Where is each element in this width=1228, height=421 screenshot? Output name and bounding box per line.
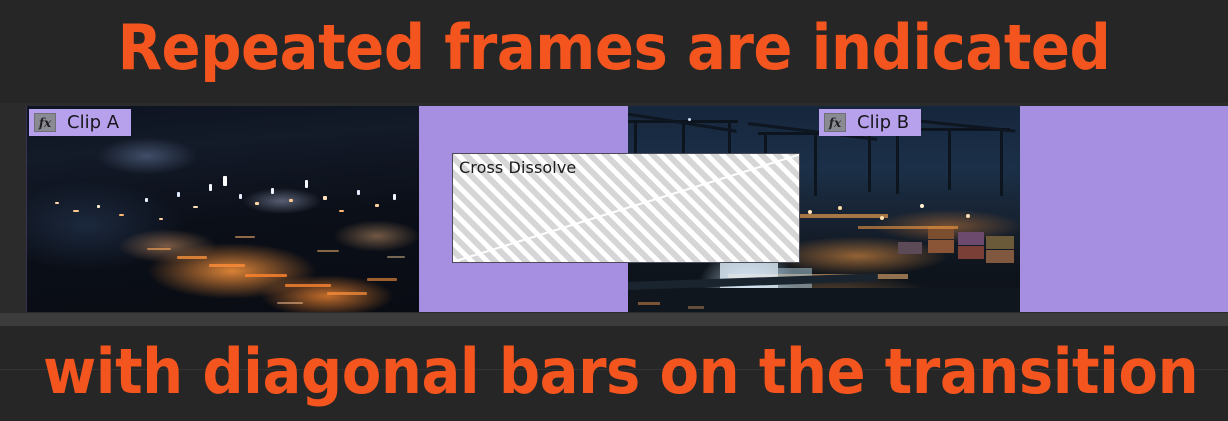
timeline-track[interactable]: Cross Dissolve fx Clip A fx Clip B: [0, 103, 1228, 314]
timeline-divider: [0, 313, 1228, 326]
clip-b-name-chip[interactable]: fx Clip B: [819, 109, 921, 136]
background-guide-line: [0, 369, 1228, 370]
clip-a-thumbnail: [27, 106, 419, 312]
transition-cross-dissolve[interactable]: Cross Dissolve: [452, 153, 800, 263]
clip-a-name-chip[interactable]: fx Clip A: [29, 109, 131, 136]
fx-effect-badge-icon[interactable]: fx: [824, 113, 846, 132]
clip-b-name-label: Clip B: [857, 114, 909, 132]
fx-effect-badge-icon[interactable]: fx: [34, 113, 56, 132]
top-caption-background: [0, 0, 1228, 103]
clip-a-name-label: Clip A: [67, 114, 119, 132]
bottom-caption-background: [0, 326, 1228, 421]
clip-a-thumbnail-lights: [27, 106, 419, 312]
transition-label: Cross Dissolve: [459, 158, 576, 177]
track-left-gutter: [0, 103, 26, 314]
